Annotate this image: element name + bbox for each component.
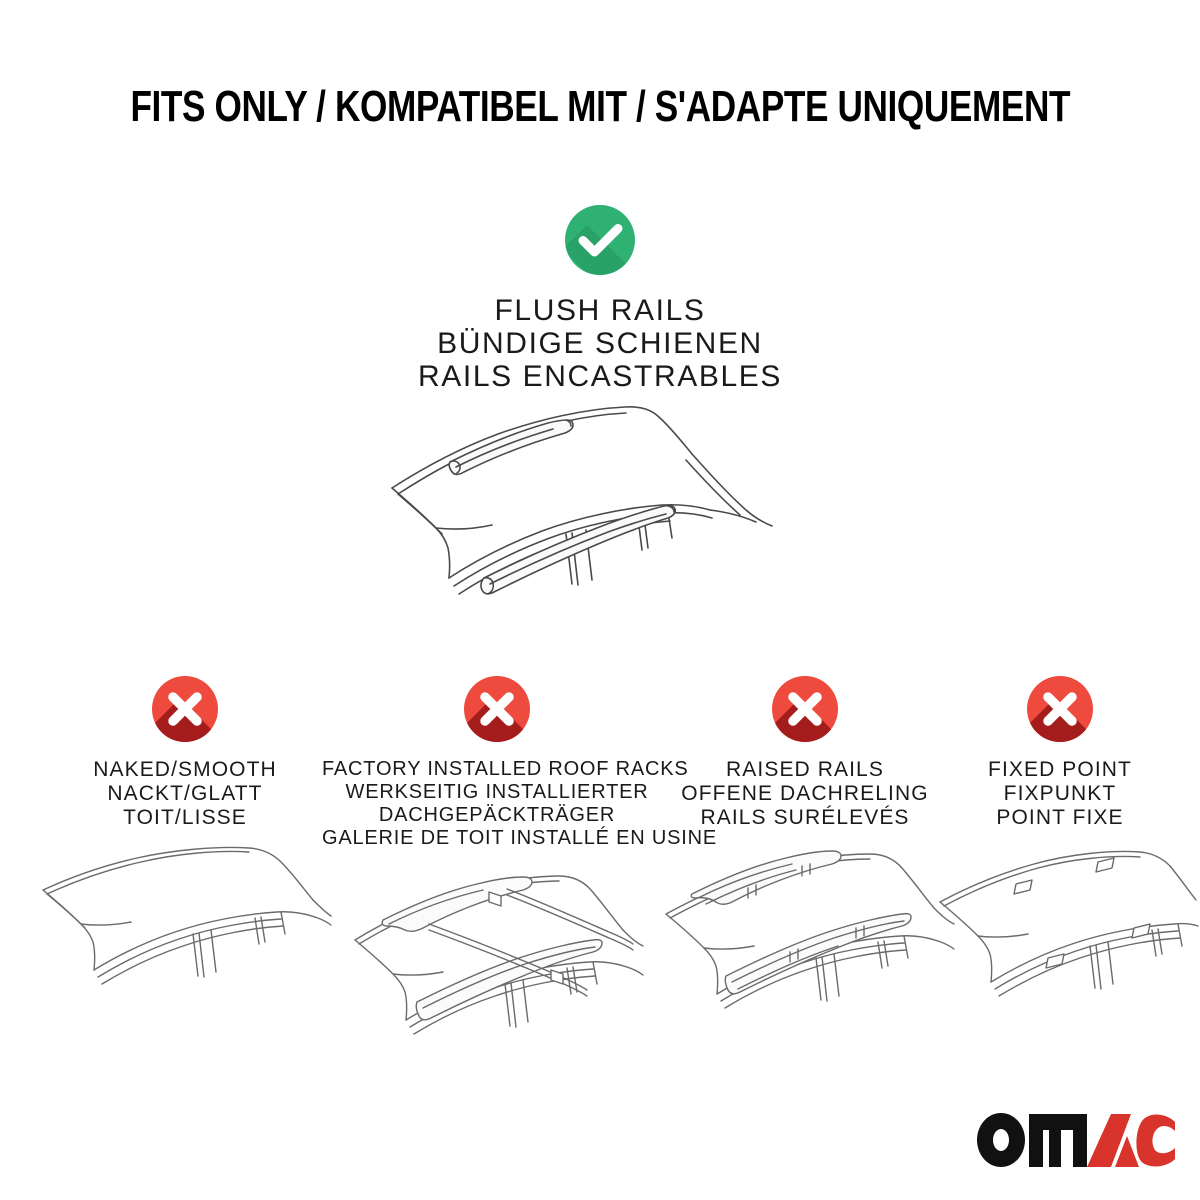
green-check-icon [565,205,635,275]
incompatible-item-raised-rails: RAISED RAILS OFFENE DACHRELING RAILS SUR… [640,676,970,1032]
red-x-icon [772,676,838,742]
red-x-icon [1027,676,1093,742]
incompatible-item-factory-roof-racks: FACTORY INSTALLED ROOF RACKS WERKSEITIG … [322,676,672,1052]
page-title: FITS ONLY / KOMPATIBEL MIT / S'ADAPTE UN… [130,84,1070,130]
label-fr: POINT FIXE [930,806,1190,830]
label-en: NAKED/SMOOTH [20,758,350,782]
compatible-label-en: FLUSH RAILS [0,294,1200,327]
header: FITS ONLY / KOMPATIBEL MIT / S'ADAPTE UN… [0,84,1200,130]
car-roof-with-flush-rails-illustration [380,398,840,638]
car-roof-raised-rails-illustration [640,842,970,1032]
compatible-label-fr: RAILS ENCASTRABLES [0,360,1200,393]
incompatible-labels: NAKED/SMOOTH NACKT/GLATT TOIT/LISSE [20,758,350,830]
compatible-section: FLUSH RAILS BÜNDIGE SCHIENEN RAILS ENCAS… [0,205,1200,393]
label-fr: RAILS SURÉLEVÉS [640,806,970,830]
compatible-label-de: BÜNDIGE SCHIENEN [0,327,1200,360]
label-fr: TOIT/LISSE [20,806,350,830]
label-en: FACTORY INSTALLED ROOF RACKS [322,758,672,781]
fitment-infographic: FITS ONLY / KOMPATIBEL MIT / S'ADAPTE UN… [0,0,1200,1200]
label-de: FIXPUNKT [930,782,1190,806]
red-x-icon [152,676,218,742]
label-fr: GALERIE DE TOIT INSTALLÉ EN USINE [322,827,672,850]
incompatible-labels: FIXED POINT FIXPUNKT POINT FIXE [930,758,1190,830]
label-en: RAISED RAILS [640,758,970,782]
car-roof-fixed-point-illustration [930,842,1190,1032]
label-de-1: WERKSEITIG INSTALLIERTER [322,781,672,804]
incompatible-item-fixed-point: FIXED POINT FIXPUNKT POINT FIXE [930,676,1190,1032]
omac-logo: OMAC [975,1112,1175,1168]
red-x-icon [464,676,530,742]
label-en: FIXED POINT [930,758,1190,782]
label-de: OFFENE DACHRELING [640,782,970,806]
car-roof-naked-smooth-illustration [20,842,350,1032]
incompatible-item-naked-smooth: NAKED/SMOOTH NACKT/GLATT TOIT/LISSE [20,676,350,1032]
label-de-2: DACHGEPÄCKTRÄGER [322,804,672,827]
compatible-labels: FLUSH RAILS BÜNDIGE SCHIENEN RAILS ENCAS… [0,294,1200,393]
incompatible-labels: FACTORY INSTALLED ROOF RACKS WERKSEITIG … [322,758,672,850]
car-roof-factory-roof-rack-illustration [322,862,672,1052]
label-de: NACKT/GLATT [20,782,350,806]
incompatible-labels: RAISED RAILS OFFENE DACHRELING RAILS SUR… [640,758,970,830]
incompatible-section: NAKED/SMOOTH NACKT/GLATT TOIT/LISSE [0,676,1200,1076]
